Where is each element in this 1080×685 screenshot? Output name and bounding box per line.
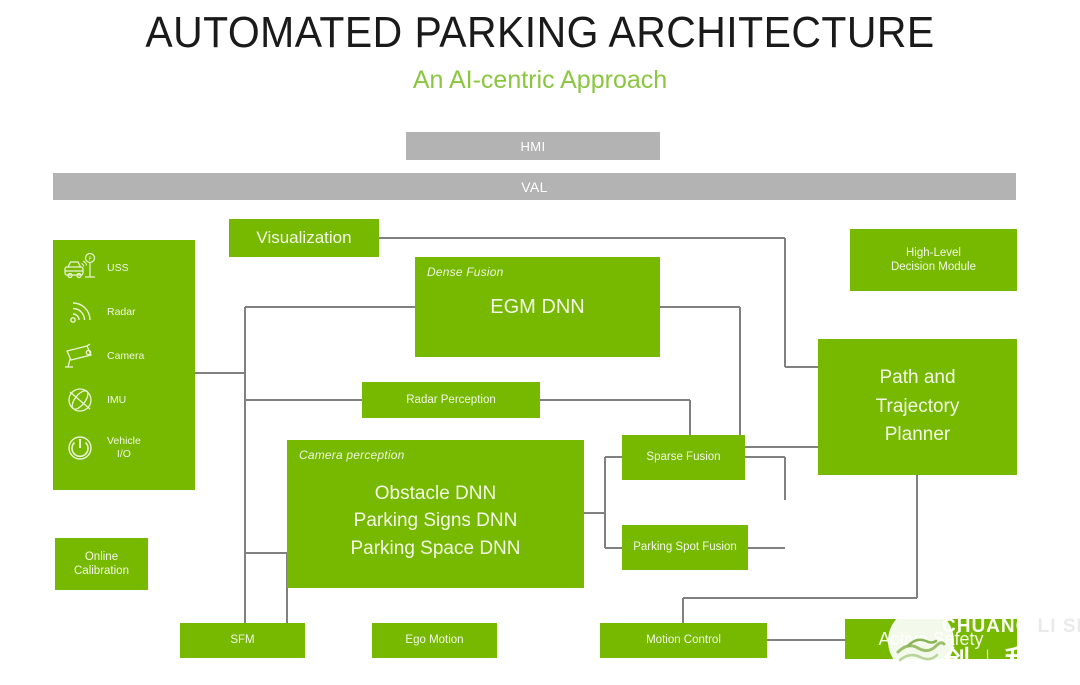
- sensor-input-panel: P USS Radar: [53, 240, 195, 490]
- sensor-row-uss[interactable]: P USS: [53, 246, 195, 290]
- box-radar-perception[interactable]: Radar Perception: [362, 382, 540, 418]
- radar-waves-icon: [53, 290, 107, 334]
- sensor-label-vehicle-io: Vehicle I/O: [107, 435, 141, 460]
- sensor-label-uss: USS: [107, 262, 129, 275]
- box-motion-control[interactable]: Motion Control: [600, 623, 767, 658]
- imu-gyroscope-icon: [53, 378, 107, 422]
- svg-text:P: P: [88, 256, 91, 262]
- sensor-row-imu[interactable]: IMU: [53, 378, 195, 422]
- diagram-canvas: AUTOMATED PARKING ARCHITECTURE An AI-cen…: [0, 0, 1080, 685]
- hld-line1: High-Level: [906, 247, 961, 259]
- online-cal-line1: Online: [85, 551, 118, 563]
- vehicle-io-line2: I/O: [117, 448, 131, 460]
- sensor-row-camera[interactable]: Camera: [53, 334, 195, 378]
- box-ego-motion[interactable]: Ego Motion: [372, 623, 497, 658]
- sensor-label-imu: IMU: [107, 394, 126, 407]
- box-sparse-fusion[interactable]: Sparse Fusion: [622, 435, 745, 480]
- sensor-label-radar: Radar: [107, 306, 136, 319]
- box-sfm[interactable]: SFM: [180, 623, 305, 658]
- sensor-label-camera: Camera: [107, 350, 144, 363]
- box-online-calibration[interactable]: Online Calibration: [55, 538, 148, 590]
- box-egm-label: EGM DNN: [415, 257, 660, 357]
- planner-line3: Planner: [885, 424, 951, 445]
- planner-line1: Path and: [879, 367, 955, 388]
- box-egm-dnn[interactable]: Dense Fusion EGM DNN: [415, 257, 660, 357]
- online-cal-line2: Calibration: [74, 565, 129, 577]
- power-button-icon: [53, 426, 107, 470]
- camera-perception-line1: Obstacle DNN: [375, 483, 496, 504]
- camera-perception-line3: Parking Space DNN: [350, 538, 520, 559]
- uss-parking-sensor-icon: P: [53, 246, 107, 290]
- box-high-level-decision-module[interactable]: High-Level Decision Module: [850, 229, 1017, 291]
- box-visualization[interactable]: Visualization: [229, 219, 379, 257]
- box-parking-spot-fusion[interactable]: Parking Spot Fusion: [622, 525, 748, 570]
- box-path-trajectory-planner[interactable]: Path and Trajectory Planner: [818, 339, 1017, 475]
- box-active-safety[interactable]: Active Safety: [845, 619, 1017, 659]
- camera-icon: [53, 334, 107, 378]
- box-camera-perception-labels: Obstacle DNN Parking Signs DNN Parking S…: [287, 454, 584, 588]
- sensor-row-radar[interactable]: Radar: [53, 290, 195, 334]
- box-camera-perception[interactable]: Camera perception Obstacle DNN Parking S…: [287, 440, 584, 588]
- planner-line2: Trajectory: [876, 396, 960, 417]
- camera-perception-line2: Parking Signs DNN: [354, 510, 518, 531]
- vehicle-io-line1: Vehicle: [107, 435, 141, 447]
- sensor-row-vehicle-io[interactable]: Vehicle I/O: [53, 426, 195, 470]
- hld-line2: Decision Module: [891, 261, 976, 273]
